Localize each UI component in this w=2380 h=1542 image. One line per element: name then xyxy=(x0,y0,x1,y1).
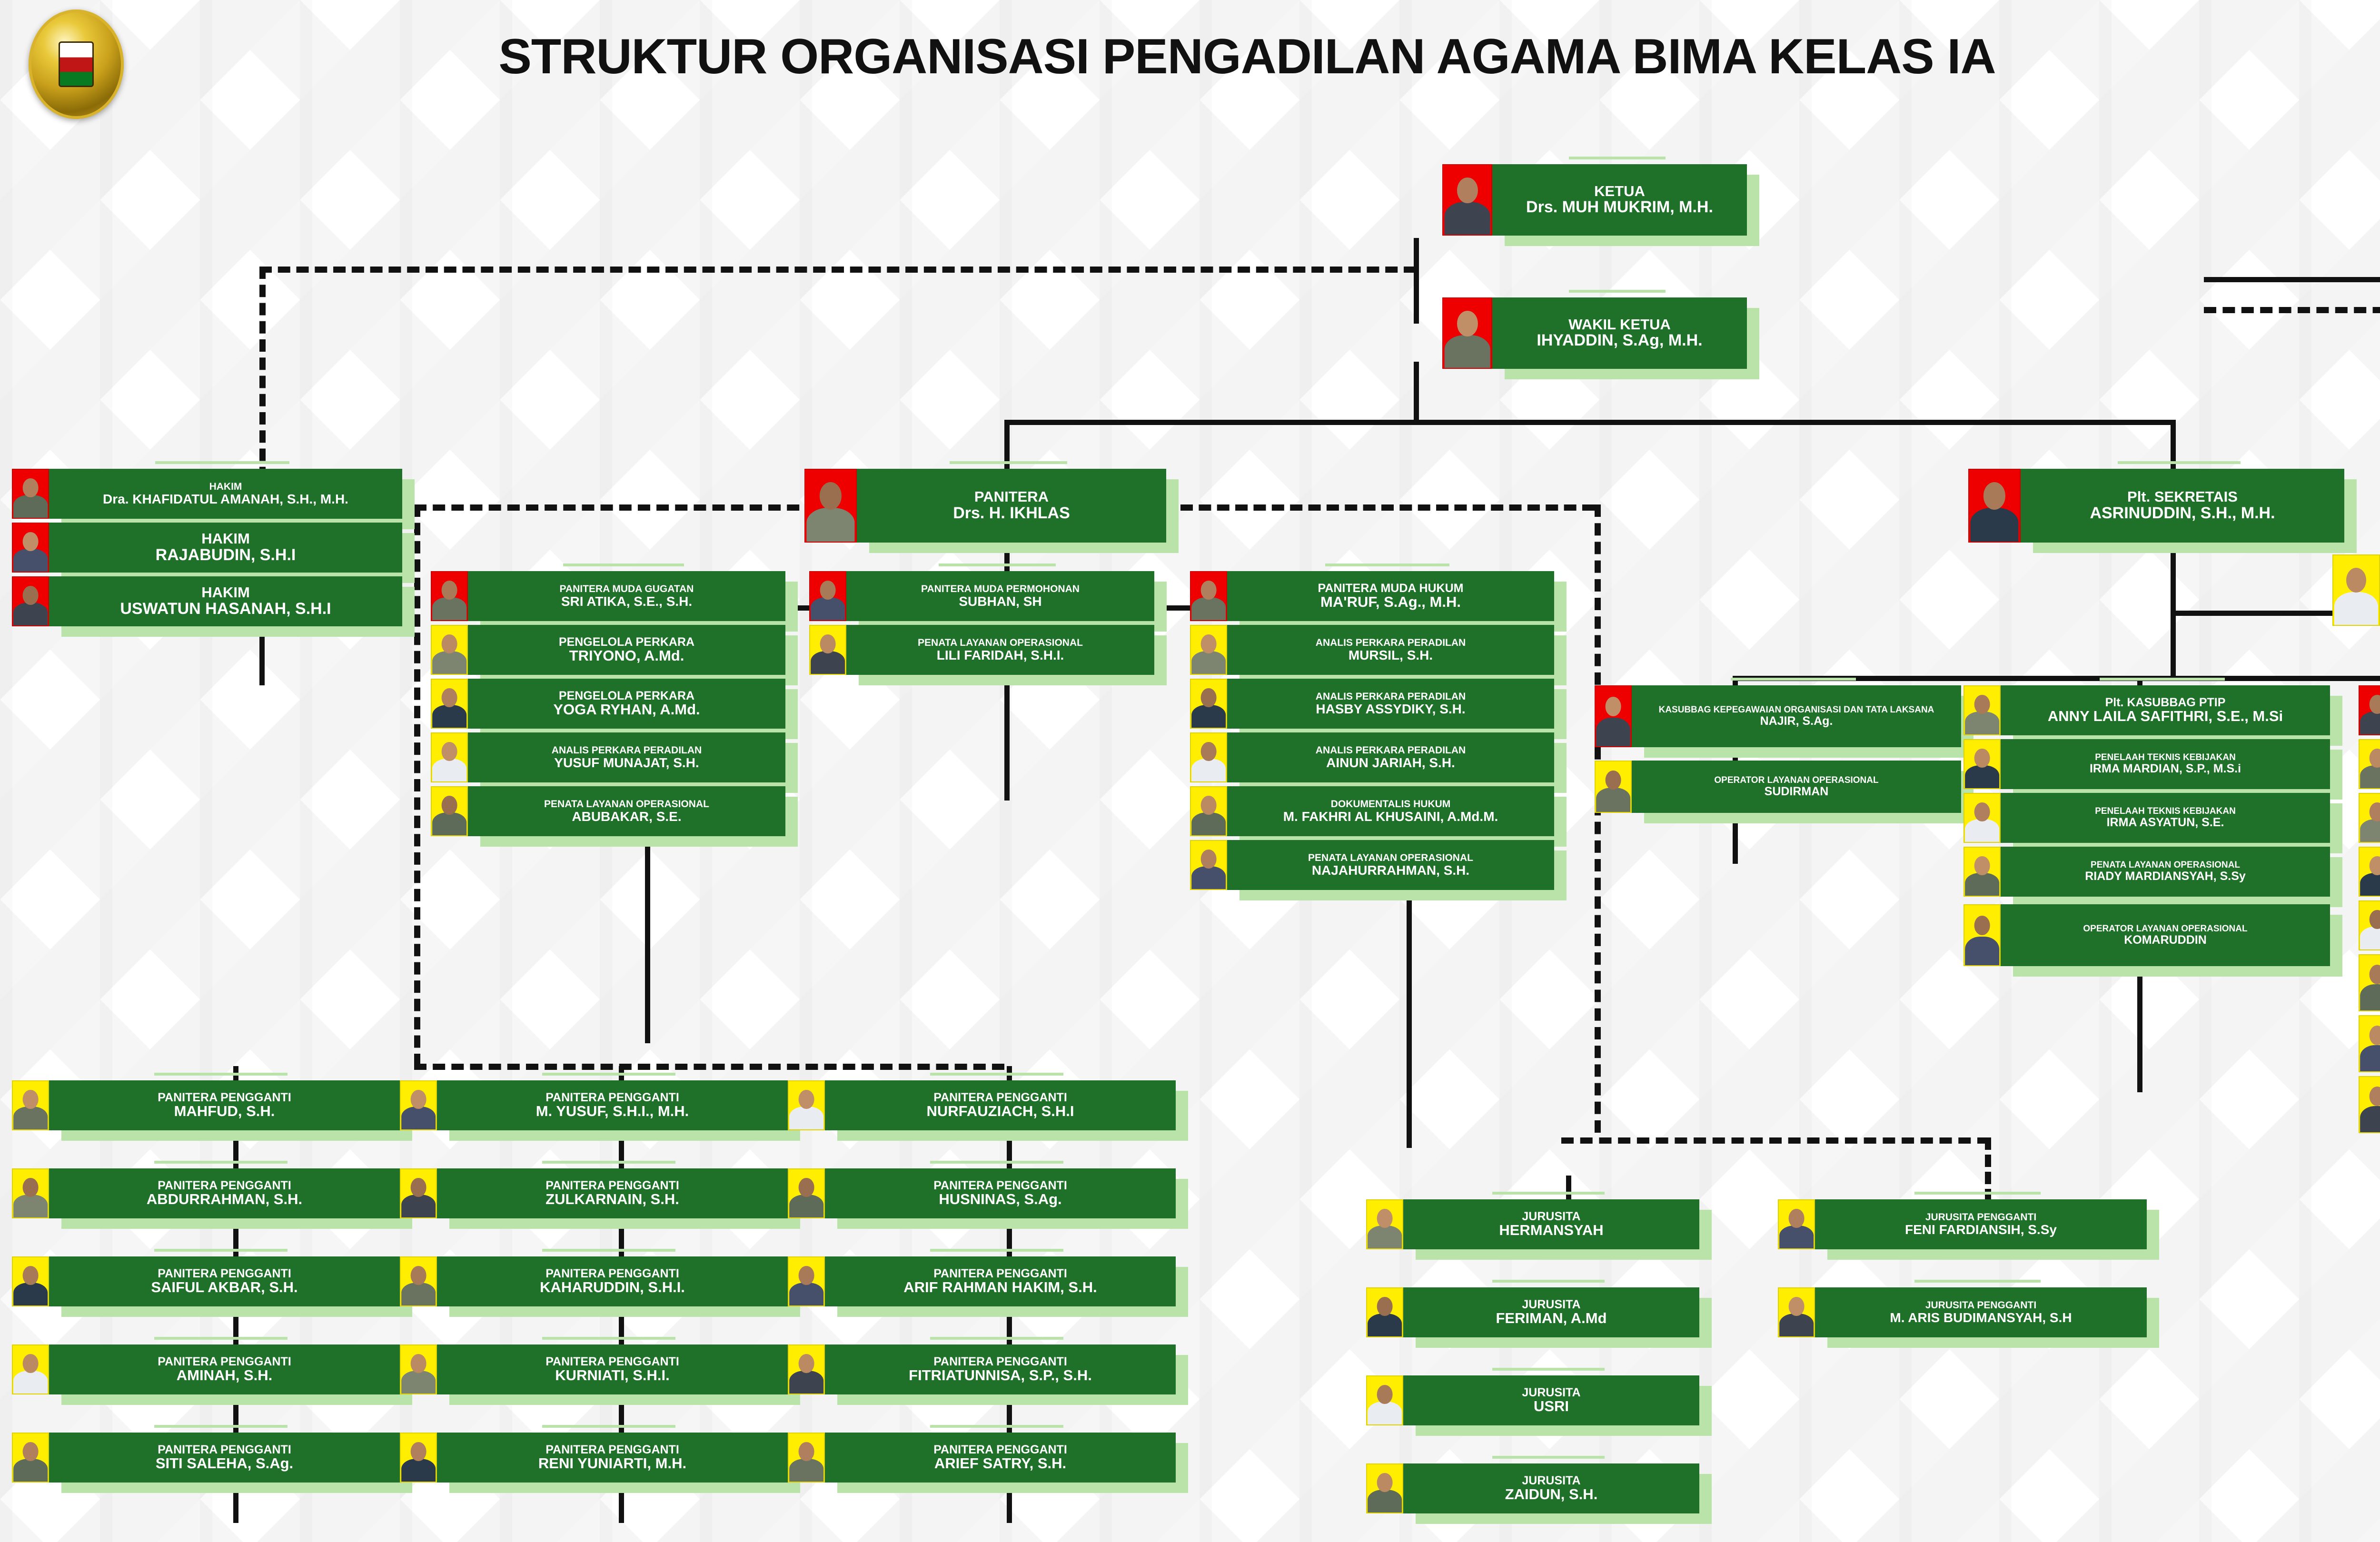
node-box[interactable]: PANITERA MUDA HUKUMMA'RUF, S.Ag., M.H. xyxy=(1227,571,1554,621)
node-hakim-1[interactable]: HAKIMDra. KHAFIDATUL AMANAH, S.H., M.H. xyxy=(12,469,402,519)
node-gugatan-3[interactable]: PENGELOLA PERKARAYOGA RYHAN, A.Md. xyxy=(431,679,785,729)
node-tick-bottom xyxy=(556,1223,690,1226)
node-umum-2[interactable]: PENATA LAYANAN OPERASIONALREZKY PUSPITAR… xyxy=(2359,739,2380,789)
person-photo xyxy=(804,469,857,543)
node-box[interactable]: PANITERA PENGGANTINURFAUZIACH, S.H.I xyxy=(825,1080,1176,1130)
connector-ketua-wakil xyxy=(1414,238,1419,324)
spine-jurusita xyxy=(1566,1176,1571,1199)
person-photo xyxy=(400,1433,437,1483)
node-box-wrapper: PENGELOLA PERKARATRIYONO, A.Md. xyxy=(468,625,785,675)
node-ptip-5[interactable]: OPERATOR LAYANAN OPERASIONALKOMARUDDIN xyxy=(1963,904,2330,966)
node-tick-top xyxy=(2100,678,2225,681)
node-box[interactable]: PANITERA PENGGANTISITI SALEHA, S.Ag. xyxy=(49,1433,400,1483)
node-title: PANITERA MUDA HUKUM xyxy=(1318,582,1464,594)
node-box[interactable]: PANITERA MUDA GUGATANSRI ATIKA, S.E., S.… xyxy=(468,571,785,621)
node-box-wrapper: Plt. KASUBBAG PTIPANNY LAILA SAFITHRI, S… xyxy=(2001,685,2330,735)
photo-head-shape xyxy=(2370,856,2380,876)
node-tick-top xyxy=(950,461,1067,464)
node-tick-bottom xyxy=(556,1487,690,1490)
node-box[interactable]: KETUADrs. MUH MUKRIM, M.H. xyxy=(1492,164,1747,236)
person-photo xyxy=(431,571,468,621)
photo-head-shape xyxy=(2370,910,2380,929)
person-photo xyxy=(2359,1015,2380,1072)
node-box-wrapper: PENELAAH TEKNIS KEBIJAKANIRMA ASYATUN, S… xyxy=(2001,793,2330,843)
node-title: PANITERA PENGGANTI xyxy=(933,1267,1067,1280)
node-box[interactable]: WAKIL KETUAIHYADDIN, S.Ag, M.H. xyxy=(1492,297,1747,369)
photo-head-shape xyxy=(1974,749,1990,768)
person-photo xyxy=(431,679,468,729)
node-person-name: ZULKARNAIN, S.H. xyxy=(545,1192,679,1207)
photo-body-shape xyxy=(432,597,466,620)
person-photo xyxy=(1366,1375,1403,1425)
node-box[interactable]: DOKUMENTALIS HUKUMM. FAKHRI AL KHUSAINI,… xyxy=(1227,786,1554,836)
node-tick-bottom xyxy=(556,1399,690,1402)
photo-head-shape xyxy=(1201,796,1217,815)
node-fungsional-apk-apbn[interactable]: FUNGSIONAL APK APBNANNY LAILA SAFITHRI, … xyxy=(2332,554,2380,626)
node-gugatan-5[interactable]: PENATA LAYANAN OPERASIONALABUBAKAR, S.E. xyxy=(431,786,785,836)
node-box[interactable]: KASUBBAG KEPEGAWAIAN ORGANISASI DAN TATA… xyxy=(1632,685,1961,747)
node-pp3-1[interactable]: PANITERA PENGGANTINURFAUZIACH, S.H.I xyxy=(788,1080,1176,1130)
node-box[interactable]: PANITERA PENGGANTIHUSNINAS, S.Ag. xyxy=(825,1168,1176,1218)
node-pp1-5[interactable]: PANITERA PENGGANTISITI SALEHA, S.Ag. xyxy=(12,1433,400,1483)
node-tick-top xyxy=(155,461,289,464)
legend-row-coordination: Garis Koordinasi xyxy=(2204,295,2380,325)
node-box[interactable]: PANITERA PENGGANTIZULKARNAIN, S.H. xyxy=(437,1168,788,1218)
node-gugatan-4[interactable]: ANALIS PERKARA PERADILANYUSUF MUNAJAT, S… xyxy=(431,732,785,782)
photo-head-shape xyxy=(1974,802,1990,822)
person-photo xyxy=(1595,685,1632,747)
photo-body-shape xyxy=(13,1459,48,1482)
node-box[interactable]: OPERATOR LAYANAN OPERASIONALSUDIRMAN xyxy=(1632,761,1961,813)
node-title: JURUSITA PENGGANTI xyxy=(1925,1212,2036,1223)
photo-head-shape xyxy=(23,1266,39,1285)
node-box[interactable]: JURUSITA PENGGANTIM. ARIS BUDIMANSYAH, S… xyxy=(1815,1287,2147,1337)
photo-body-shape xyxy=(2334,592,2378,625)
node-hakim-2[interactable]: HAKIMRAJABUDIN, S.H.I xyxy=(12,523,402,573)
person-photo xyxy=(12,576,49,626)
person-photo xyxy=(400,1168,437,1218)
node-tick-bottom xyxy=(1504,1254,1616,1257)
photo-head-shape xyxy=(820,634,836,654)
node-permohonan-1[interactable]: PANITERA MUDA PERMOHONANSUBHAN, SH xyxy=(809,571,1154,621)
person-photo xyxy=(400,1080,437,1130)
node-box-wrapper: PANITERA PENGGANTIKAHARUDDIN, S.H.I. xyxy=(437,1256,788,1306)
connector-bus-panitera-sekretaris xyxy=(1004,420,2175,425)
node-tick-top xyxy=(542,1161,675,1164)
photo-head-shape xyxy=(2370,749,2380,768)
photo-head-shape xyxy=(442,742,457,761)
photo-head-shape xyxy=(23,532,39,552)
node-box-wrapper: DOKUMENTALIS HUKUMM. FAKHRI AL KHUSAINI,… xyxy=(1227,786,1554,836)
node-person-name: HERMANSYAH xyxy=(1499,1223,1603,1238)
node-pp2-2[interactable]: PANITERA PENGGANTIZULKARNAIN, S.H. xyxy=(400,1168,788,1218)
node-tick-top xyxy=(930,1337,1063,1340)
node-tick-top xyxy=(930,1161,1063,1164)
photo-body-shape xyxy=(1368,1314,1402,1336)
person-photo xyxy=(1190,840,1227,890)
node-box[interactable]: PANITERA PENGGANTIAMINAH, S.H. xyxy=(49,1344,400,1394)
node-box[interactable]: PENATA LAYANAN OPERASIONALLILI FARIDAH, … xyxy=(846,625,1154,675)
node-title: PANITERA PENGGANTI xyxy=(933,1179,1067,1192)
node-hakim-3[interactable]: HAKIMUSWATUN HASANAH, S.H.I xyxy=(12,576,402,626)
node-box-wrapper: PENELAAH TEKNIS KEBIJAKANIRMA MARDIAN, S… xyxy=(2001,739,2330,789)
node-box[interactable]: PANITERA PENGGANTIARIF RAHMAN HAKIM, S.H… xyxy=(825,1256,1176,1306)
node-person-name: ABDURRAHMAN, S.H. xyxy=(147,1192,302,1207)
person-photo xyxy=(1190,625,1227,675)
node-tick-top xyxy=(1731,753,1856,756)
page-title: STRUKTUR ORGANISASI PENGADILAN AGAMA BIM… xyxy=(200,29,2294,85)
photo-head-shape xyxy=(1974,695,1990,714)
node-kasubbag-kepegawaian[interactable]: KASUBBAG KEPEGAWAIAN ORGANISASI DAN TATA… xyxy=(1595,685,1961,747)
node-box[interactable]: PENATA LAYANAN OPERASIONALNAJAHURRAHMAN,… xyxy=(1227,840,1554,890)
node-box[interactable]: PENGELOLA PERKARAYOGA RYHAN, A.Md. xyxy=(468,679,785,729)
photo-body-shape xyxy=(1368,1226,1402,1248)
node-person-name: SRI ATIKA, S.E., S.H. xyxy=(561,594,692,608)
node-box[interactable]: PANITERA PENGGANTIARIEF SATRY, S.H. xyxy=(825,1433,1176,1483)
photo-head-shape xyxy=(799,1090,814,1109)
node-tick-top xyxy=(930,1073,1063,1076)
node-tick-bottom xyxy=(944,1223,1078,1226)
node-title: PANITERA PENGGANTI xyxy=(158,1267,291,1280)
node-jurusita-3[interactable]: JURUSITAUSRI xyxy=(1366,1375,1699,1425)
node-person-name: NAJIR, S.Ag. xyxy=(1760,715,1833,727)
person-photo xyxy=(12,1433,49,1483)
node-person-name: ZAIDUN, S.H. xyxy=(1505,1487,1598,1502)
photo-body-shape xyxy=(13,549,48,572)
node-jurusita-1[interactable]: JURUSITAHERMANSYAH xyxy=(1366,1199,1699,1249)
node-ptip-1[interactable]: Plt. KASUBBAG PTIPANNY LAILA SAFITHRI, S… xyxy=(1963,685,2330,735)
photo-head-shape xyxy=(1457,178,1478,204)
node-jurusita-pengganti-1[interactable]: JURUSITA PENGGANTIFENI FARDIANSIH, S.Sy xyxy=(1778,1199,2147,1249)
photo-body-shape xyxy=(13,1107,48,1129)
node-box[interactable]: PANITERA PENGGANTIMAHFUD, S.H. xyxy=(49,1080,400,1130)
node-ptip-4[interactable]: PENATA LAYANAN OPERASIONALRIADY MARDIANS… xyxy=(1963,847,2330,897)
node-person-name: ARIEF SATRY, S.H. xyxy=(934,1456,1066,1472)
node-box-wrapper: PANITERA PENGGANTIM. YUSUF, S.H.I., M.H. xyxy=(437,1080,788,1130)
node-box-wrapper: PANITERA PENGGANTIARIF RAHMAN HAKIM, S.H… xyxy=(825,1256,1176,1306)
photo-head-shape xyxy=(1789,1297,1805,1316)
photo-head-shape xyxy=(1457,311,1478,337)
node-box[interactable]: JURUSITAHERMANSYAH xyxy=(1403,1199,1699,1249)
node-tick-top xyxy=(1325,563,1449,566)
node-box[interactable]: HAKIMRAJABUDIN, S.H.I xyxy=(49,523,402,573)
node-person-name: FITRIATUNNISA, S.P., S.H. xyxy=(909,1368,1092,1384)
node-tick-top xyxy=(542,1249,675,1252)
person-photo xyxy=(809,571,846,621)
node-tick-bottom xyxy=(944,1135,1078,1138)
node-box[interactable]: PANITERA PENGGANTIKURNIATI, S.H.I. xyxy=(437,1344,788,1394)
node-title: PANITERA PENGGANTI xyxy=(158,1355,291,1368)
node-tick-bottom xyxy=(951,680,1068,682)
person-photo xyxy=(1366,1287,1403,1337)
person-photo xyxy=(1778,1199,1815,1249)
node-tick-bottom xyxy=(944,1399,1078,1402)
photo-body-shape xyxy=(432,812,466,835)
node-title: PANITERA PENGGANTI xyxy=(933,1091,1067,1104)
photo-head-shape xyxy=(442,634,457,654)
photo-body-shape xyxy=(13,495,48,518)
node-tick-bottom xyxy=(169,1487,302,1490)
photo-head-shape xyxy=(1377,1385,1393,1404)
node-tick-bottom xyxy=(169,1135,302,1138)
node-tick-bottom xyxy=(556,1135,690,1138)
node-umum-6[interactable]: OPERATOR LAYANAN OPERASIONALILHAM xyxy=(2359,954,2380,1011)
node-person-name: IRMA ASYATUN, S.E. xyxy=(2107,816,2224,829)
node-title: PANITERA PENGGANTI xyxy=(933,1443,1067,1456)
node-box-wrapper: JURUSITAHERMANSYAH xyxy=(1403,1199,1699,1249)
node-ptip-2[interactable]: PENELAAH TEKNIS KEBIJAKANIRMA MARDIAN, S… xyxy=(1963,739,2330,789)
node-box[interactable]: PANITERA PENGGANTIKAHARUDDIN, S.H.I. xyxy=(437,1256,788,1306)
connector-wakil-down xyxy=(1414,362,1419,424)
node-kepegawaian-2[interactable]: OPERATOR LAYANAN OPERASIONALSUDIRMAN xyxy=(1595,761,1961,813)
person-photo xyxy=(2359,793,2380,843)
node-box[interactable]: PENATA LAYANAN OPERASIONALRIADY MARDIANS… xyxy=(2001,847,2330,897)
node-box[interactable]: JURUSITAFERIMAN, A.Md xyxy=(1403,1287,1699,1337)
node-box[interactable]: PENATA LAYANAN OPERASIONALABUBAKAR, S.E. xyxy=(468,786,785,836)
node-box[interactable]: PENELAAH TEKNIS KEBIJAKANIRMA MARDIAN, S… xyxy=(2001,739,2330,789)
node-gugatan-2[interactable]: PENGELOLA PERKARATRIYONO, A.Md. xyxy=(431,625,785,675)
node-person-name: KOMARUDDIN xyxy=(2124,934,2207,946)
node-title: WAKIL KETUA xyxy=(1568,317,1671,333)
node-box-wrapper: PENGELOLA PERKARAYOGA RYHAN, A.Md. xyxy=(468,679,785,729)
dashed-line-icon xyxy=(2204,307,2380,313)
node-box[interactable]: PANITERADrs. H. IKHLAS xyxy=(857,469,1166,543)
node-ketua[interactable]: KETUADrs. MUH MUKRIM, M.H. xyxy=(1442,164,1747,236)
node-person-name: ASRINUDDIN, S.H., M.H. xyxy=(2090,505,2275,522)
node-person-name: SUDIRMAN xyxy=(1765,785,1829,798)
photo-head-shape xyxy=(820,581,836,600)
photo-body-shape xyxy=(1444,202,1490,235)
photo-body-shape xyxy=(2360,1045,2380,1071)
node-umum-7[interactable]: OPERATOR LAYANAN OPERASIONALDENI ARIANSY… xyxy=(2359,1015,2380,1072)
node-box-wrapper: Plt. SEKRETAISASRINUDDIN, S.H., M.H. xyxy=(2021,469,2344,543)
solid-line-icon xyxy=(2204,277,2380,282)
node-person-name: NURFAUZIACH, S.H.I xyxy=(927,1104,1074,1119)
node-box-wrapper: OPERATOR LAYANAN OPERASIONALKOMARUDDIN xyxy=(2001,904,2330,966)
node-wakil-ketua[interactable]: WAKIL KETUAIHYADDIN, S.Ag, M.H. xyxy=(1442,297,1747,369)
node-title: PANITERA MUDA PERMOHONAN xyxy=(921,584,1080,594)
node-hukum-5[interactable]: DOKUMENTALIS HUKUMM. FAKHRI AL KHUSAINI,… xyxy=(1190,786,1554,836)
node-title: PANITERA PENGGANTI xyxy=(545,1443,679,1456)
photo-head-shape xyxy=(411,1354,426,1374)
node-person-name: RAJABUDIN, S.H.I xyxy=(156,547,296,564)
node-box[interactable]: Plt. KASUBBAG PTIPANNY LAILA SAFITHRI, S… xyxy=(2001,685,2330,735)
coordination-line-jurusita xyxy=(1561,1137,1990,1144)
node-jurusita-2[interactable]: JURUSITAFERIMAN, A.Md xyxy=(1366,1287,1699,1337)
person-photo xyxy=(1366,1199,1403,1249)
node-tick-bottom xyxy=(1744,818,1869,820)
node-person-name: IRMA MARDIAN, S.P., M.S.i xyxy=(2090,762,2241,775)
node-jurusita-pengganti-2[interactable]: JURUSITA PENGGANTIM. ARIS BUDIMANSYAH, S… xyxy=(1778,1287,2147,1337)
photo-body-shape xyxy=(789,1283,823,1305)
connector-sekretaris-fungsional xyxy=(2171,611,2347,616)
node-umum-4[interactable]: PENATA LAYANAN OPERASIONALSAHABUDIN, S.S… xyxy=(2359,847,2380,897)
node-tick-top xyxy=(542,1337,675,1340)
node-person-name: AMINAH, S.H. xyxy=(177,1368,273,1384)
photo-body-shape xyxy=(1965,819,1999,842)
node-box[interactable]: ANALIS PERKARA PERADILANAINUN JARIAH, S.… xyxy=(1227,732,1554,782)
photo-body-shape xyxy=(401,1371,436,1394)
photo-body-shape xyxy=(1191,705,1226,728)
node-pp3-2[interactable]: PANITERA PENGGANTIHUSNINAS, S.Ag. xyxy=(788,1168,1176,1218)
node-tick-top xyxy=(939,563,1056,566)
photo-body-shape xyxy=(2360,712,2380,734)
photo-body-shape xyxy=(1191,597,1226,620)
node-hukum-2[interactable]: ANALIS PERKARA PERADILANMURSIL, S.H. xyxy=(1190,625,1554,675)
node-box[interactable]: HAKIMDra. KHAFIDATUL AMANAH, S.H., M.H. xyxy=(49,469,402,519)
node-box[interactable]: PANITERA PENGGANTISAIFUL AKBAR, S.H. xyxy=(49,1256,400,1306)
photo-head-shape xyxy=(23,1442,39,1462)
node-box-wrapper: PANITERA MUDA HUKUMMA'RUF, S.Ag., M.H. xyxy=(1227,571,1554,621)
person-photo xyxy=(788,1080,825,1130)
node-tick-top xyxy=(1569,157,1666,159)
node-panitera[interactable]: PANITERADrs. H. IKHLAS xyxy=(804,469,1166,543)
node-title: PANITERA PENGGANTI xyxy=(545,1179,679,1192)
photo-body-shape xyxy=(789,1195,823,1217)
node-box-wrapper: ANALIS PERKARA PERADILANMURSIL, S.H. xyxy=(1227,625,1554,675)
node-box-wrapper: KASUBBAG KEPEGAWAIAN ORGANISASI DAN TATA… xyxy=(1632,685,1961,747)
node-hukum-1[interactable]: PANITERA MUDA HUKUMMA'RUF, S.Ag., M.H. xyxy=(1190,571,1554,621)
node-box[interactable]: PANITERA PENGGANTIM. YUSUF, S.H.I., M.H. xyxy=(437,1080,788,1130)
node-umum-1[interactable]: KASUBBAG UMUM & KEUANGANASRINUDDIN, S.H.… xyxy=(2359,685,2380,735)
node-box[interactable]: JURUSITAUSRI xyxy=(1403,1375,1699,1425)
node-person-name: ARIF RAHMAN HAKIM, S.H. xyxy=(903,1280,1097,1295)
node-box[interactable]: Plt. SEKRETAISASRINUDDIN, S.H., M.H. xyxy=(2021,469,2344,543)
person-photo xyxy=(431,786,468,836)
node-pp2-5[interactable]: PANITERA PENGGANTIRENI YUNIARTI, M.H. xyxy=(400,1433,788,1483)
node-box-wrapper: PANITERA PENGGANTIRENI YUNIARTI, M.H. xyxy=(437,1433,788,1483)
node-box-wrapper: PANITERA MUDA PERMOHONANSUBHAN, SH xyxy=(846,571,1154,621)
photo-body-shape xyxy=(13,603,48,625)
node-box[interactable]: ANALIS PERKARA PERADILANYUSUF MUNAJAT, S… xyxy=(468,732,785,782)
photo-body-shape xyxy=(1965,765,1999,788)
node-box[interactable]: JURUSITAZAIDUN, S.H. xyxy=(1403,1463,1699,1513)
node-sekretaris[interactable]: Plt. SEKRETAISASRINUDDIN, S.H., M.H. xyxy=(1968,469,2344,543)
node-box-wrapper: PANITERA PENGGANTISITI SALEHA, S.Ag. xyxy=(49,1433,400,1483)
node-box[interactable]: PANITERA MUDA PERMOHONANSUBHAN, SH xyxy=(846,571,1154,621)
node-pp3-3[interactable]: PANITERA PENGGANTIARIF RAHMAN HAKIM, S.H… xyxy=(788,1256,1176,1306)
person-photo xyxy=(12,469,49,519)
node-tick-bottom xyxy=(962,547,1080,550)
node-umum-3[interactable]: TEKNISI SARANA & PRASARANAALAN PRADANA B… xyxy=(2359,793,2380,843)
node-jurusita-4[interactable]: JURUSITAZAIDUN, S.H. xyxy=(1366,1463,1699,1513)
coordination-line-panitera-left-down xyxy=(414,504,420,1066)
node-pp1-1[interactable]: PANITERA PENGGANTIMAHFUD, S.H. xyxy=(12,1080,400,1130)
node-tick-top xyxy=(1914,1280,2041,1283)
node-tick-top xyxy=(154,1161,288,1164)
node-box[interactable]: PENGELOLA PERKARATRIYONO, A.Md. xyxy=(468,625,785,675)
photo-head-shape xyxy=(799,1442,814,1462)
node-box-wrapper: HAKIMDra. KHAFIDATUL AMANAH, S.H., M.H. xyxy=(49,469,402,519)
person-photo xyxy=(1190,786,1227,836)
photo-head-shape xyxy=(1201,634,1217,654)
photo-head-shape xyxy=(411,1442,426,1462)
node-box[interactable]: HAKIMUSWATUN HASANAH, S.H.I xyxy=(49,576,402,626)
node-tick-bottom xyxy=(556,1311,690,1314)
node-tick-bottom xyxy=(576,841,696,844)
node-title: PANITERA PENGGANTI xyxy=(545,1267,679,1280)
node-box[interactable]: ANALIS PERKARA PERADILANHASBY ASSYDIKY, … xyxy=(1227,679,1554,729)
node-pp1-3[interactable]: PANITERA PENGGANTISAIFUL AKBAR, S.H. xyxy=(12,1256,400,1306)
node-box[interactable]: PENELAAH TEKNIS KEBIJAKANIRMA ASYATUN, S… xyxy=(2001,793,2330,843)
node-title: KETUA xyxy=(1594,184,1645,199)
node-box[interactable]: OPERATOR LAYANAN OPERASIONALKOMARUDDIN xyxy=(2001,904,2330,966)
node-pp1-4[interactable]: PANITERA PENGGANTIAMINAH, S.H. xyxy=(12,1344,400,1394)
person-photo xyxy=(1190,571,1227,621)
node-box[interactable]: PANITERA PENGGANTIRENI YUNIARTI, M.H. xyxy=(437,1433,788,1483)
node-tick-bottom xyxy=(169,631,303,634)
node-person-name: MA'RUF, S.Ag., M.H. xyxy=(1320,594,1461,610)
node-person-name: Drs. MUH MUKRIM, M.H. xyxy=(1526,199,1713,216)
coordination-line-panitera-right xyxy=(1180,504,1595,511)
node-title: PANITERA PENGGANTI xyxy=(933,1355,1067,1368)
photo-body-shape xyxy=(401,1195,436,1217)
node-umum-5[interactable]: PENATA LAYANAN OPERASIONALWAHYUDIN, S.H. xyxy=(2359,900,2380,950)
coordination-line-ketua-hakim xyxy=(259,267,1416,273)
node-umum-8[interactable]: PENGADMINISTASI PERKANTORANMUSLIADIN xyxy=(2359,1076,2380,1133)
node-box-wrapper: PANITERA MUDA GUGATANSRI ATIKA, S.E., S.… xyxy=(468,571,785,621)
person-photo xyxy=(12,1256,49,1306)
photo-body-shape xyxy=(401,1459,436,1482)
node-person-name: M. ARIS BUDIMANSYAH, S.H xyxy=(1890,1311,2072,1325)
photo-head-shape xyxy=(1606,771,1621,790)
photo-head-shape xyxy=(2370,1026,2380,1045)
person-photo xyxy=(400,1256,437,1306)
photo-body-shape xyxy=(806,508,854,542)
node-pp3-4[interactable]: PANITERA PENGGANTIFITRIATUNNISA, S.P., S… xyxy=(788,1344,1176,1394)
node-person-name: USRI xyxy=(1534,1399,1569,1414)
photo-body-shape xyxy=(13,1371,48,1394)
node-box[interactable]: PANITERA PENGGANTIFITRIATUNNISA, S.P., S… xyxy=(825,1344,1176,1394)
node-box[interactable]: JURUSITA PENGGANTIFENI FARDIANSIH, S.Sy xyxy=(1815,1199,2147,1249)
node-permohonan-2[interactable]: PENATA LAYANAN OPERASIONALLILI FARIDAH, … xyxy=(809,625,1154,675)
node-tick-bottom xyxy=(169,1399,302,1402)
person-photo xyxy=(2359,954,2380,1011)
node-hukum-3[interactable]: ANALIS PERKARA PERADILANHASBY ASSYDIKY, … xyxy=(1190,679,1554,729)
person-photo xyxy=(1442,297,1492,369)
photo-head-shape xyxy=(1201,688,1217,708)
photo-head-shape xyxy=(820,482,842,509)
node-ptip-3[interactable]: PENELAAH TEKNIS KEBIJAKANIRMA ASYATUN, S… xyxy=(1963,793,2330,843)
node-person-name: SITI SALEHA, S.Ag. xyxy=(156,1456,293,1472)
node-pp2-4[interactable]: PANITERA PENGGANTIKURNIATI, S.H.I. xyxy=(400,1344,788,1394)
node-pp2-1[interactable]: PANITERA PENGGANTIM. YUSUF, S.H.I., M.H. xyxy=(400,1080,788,1130)
node-person-name: MURSIL, S.H. xyxy=(1349,648,1433,662)
node-pp1-2[interactable]: PANITERA PENGGANTIABDURRAHMAN, S.H. xyxy=(12,1168,400,1218)
node-person-name: HASBY ASSYDIKY, S.H. xyxy=(1316,702,1465,716)
node-title: PENATA LAYANAN OPERASIONAL xyxy=(544,799,709,810)
node-hukum-6[interactable]: PENATA LAYANAN OPERASIONALNAJAHURRAHMAN,… xyxy=(1190,840,1554,890)
photo-head-shape xyxy=(23,1090,39,1109)
node-box-wrapper: PANITERA PENGGANTIFITRIATUNNISA, S.P., S… xyxy=(825,1344,1176,1394)
photo-body-shape xyxy=(2360,765,2380,788)
person-photo xyxy=(2359,685,2380,735)
node-title: PENATA LAYANAN OPERASIONAL xyxy=(918,638,1083,648)
node-box[interactable]: PANITERA PENGGANTIABDURRAHMAN, S.H. xyxy=(49,1168,400,1218)
node-tick-bottom xyxy=(1504,1342,1616,1345)
node-box-wrapper: ANALIS PERKARA PERADILANHASBY ASSYDIKY, … xyxy=(1227,679,1554,729)
node-box-wrapper: PANITERA PENGGANTIHUSNINAS, S.Ag. xyxy=(825,1168,1176,1218)
node-hukum-4[interactable]: ANALIS PERKARA PERADILANAINUN JARIAH, S.… xyxy=(1190,732,1554,782)
node-box-wrapper: PANITERA PENGGANTISAIFUL AKBAR, S.H. xyxy=(49,1256,400,1306)
node-gugatan-1[interactable]: PANITERA MUDA GUGATANSRI ATIKA, S.E., S.… xyxy=(431,571,785,621)
photo-body-shape xyxy=(1191,812,1226,835)
node-pp2-3[interactable]: PANITERA PENGGANTIKAHARUDDIN, S.H.I. xyxy=(400,1256,788,1306)
node-pp3-5[interactable]: PANITERA PENGGANTIARIEF SATRY, S.H. xyxy=(788,1433,1176,1483)
node-box[interactable]: ANALIS PERKARA PERADILANMURSIL, S.H. xyxy=(1227,625,1554,675)
connector-down-panitera xyxy=(1004,420,1010,477)
photo-head-shape xyxy=(1201,850,1217,869)
